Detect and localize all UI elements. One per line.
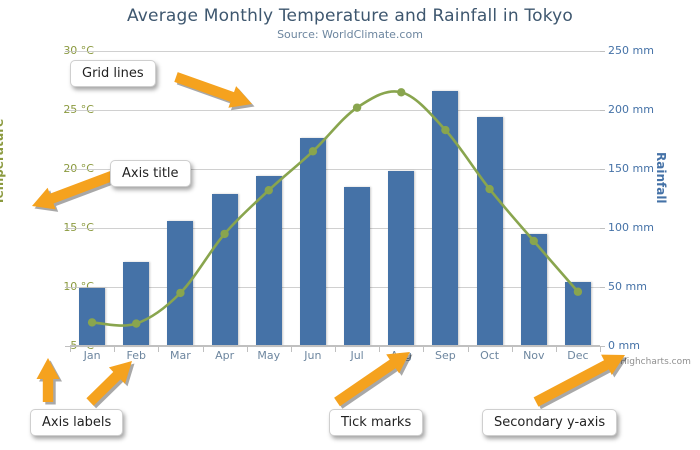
temperature-point[interactable]: Dec: 9.6 °C — [574, 288, 582, 296]
annotation-arrow-shadow — [39, 361, 62, 405]
annotation-arrow-shadow — [337, 355, 413, 409]
chart-subtitle: Source: WorldClimate.com — [0, 28, 700, 41]
temperature-point[interactable]: Jun: 21.5 °C — [309, 147, 317, 155]
x-axis-tick-mark — [556, 346, 557, 352]
x-axis-tick-mark — [468, 346, 469, 352]
callout-grid-lines: Grid lines — [70, 60, 156, 87]
temperature-point[interactable]: Nov: 13.9 °C — [530, 237, 538, 245]
x-axis-tick-mark — [291, 346, 292, 352]
x-axis-tick-label: Nov — [512, 349, 556, 362]
x-axis-tick-label: Feb — [114, 349, 158, 362]
y-axis-right-tick-label: 100 mm — [608, 221, 678, 234]
y-axis-right-tick-mark — [600, 228, 605, 229]
temperature-point[interactable]: Jul: 25.2 °C — [353, 103, 361, 111]
x-axis-tick-mark — [379, 346, 380, 352]
x-axis-tick-mark — [423, 346, 424, 352]
temperature-line — [92, 91, 578, 325]
y-axis-right-tick-mark — [600, 169, 605, 170]
x-axis-tick-mark — [158, 346, 159, 352]
x-axis-tick-mark — [70, 346, 71, 352]
x-axis-tick-label: Jul — [335, 349, 379, 362]
x-axis-tick-label: Aug — [379, 349, 423, 362]
temperature-point[interactable]: Sep: 23.3 °C — [441, 126, 449, 134]
temperature-point[interactable]: Jan: 7 °C — [88, 318, 96, 326]
annotation-arrow — [37, 358, 60, 402]
y-axis-right-tick-label: 200 mm — [608, 103, 678, 116]
x-axis-tick-label: Mar — [158, 349, 202, 362]
y-axis-right-tick-label: 250 mm — [608, 44, 678, 57]
x-axis-tick-label: Jun — [291, 349, 335, 362]
y-axis-right-tick-label: 150 mm — [608, 162, 678, 175]
y-axis-right-tick-mark — [600, 110, 605, 111]
x-axis-tick-mark — [247, 346, 248, 352]
highcharts-credit[interactable]: Highcharts.com — [620, 357, 691, 367]
x-axis-tick-mark — [203, 346, 204, 352]
temperature-point[interactable]: Apr: 14.5 °C — [220, 230, 228, 238]
temperature-point[interactable]: Feb: 6.9 °C — [132, 319, 140, 327]
y-axis-right-title: Rainfall — [654, 152, 668, 204]
annotation-arrow — [86, 361, 132, 406]
plot-area: Jan: 7 °CFeb: 6.9 °CMar: 9.5 °CApr: 14.5… — [70, 51, 600, 346]
callout-axis-labels: Axis labels — [30, 409, 123, 436]
x-axis-tick-label: Jan — [70, 349, 114, 362]
callout-axis-title: Axis title — [110, 160, 191, 187]
temperature-point[interactable]: May: 18.2 °C — [265, 186, 273, 194]
temperature-line-series: Jan: 7 °CFeb: 6.9 °CMar: 9.5 °CApr: 14.5… — [70, 51, 600, 346]
x-axis-tick-label: Sep — [423, 349, 467, 362]
annotation-arrow-shadow — [536, 357, 627, 409]
x-axis-tick-label: Dec — [556, 349, 600, 362]
x-axis-tick-mark — [335, 346, 336, 352]
x-axis-tick-mark — [512, 346, 513, 352]
annotation-arrow-shadow — [89, 364, 135, 409]
y-axis-right-tick-mark — [600, 287, 605, 288]
annotation-arrow — [534, 355, 625, 407]
x-axis-tick-label: May — [247, 349, 291, 362]
chart-canvas: Average Monthly Temperature and Rainfall… — [0, 0, 700, 450]
x-axis-tick-mark — [114, 346, 115, 352]
temperature-point[interactable]: Mar: 9.5 °C — [176, 289, 184, 297]
y-axis-right-tick-label: 0 mm — [608, 339, 678, 352]
y-axis-right-tick-mark — [600, 51, 605, 52]
x-axis-tick-mark — [600, 346, 601, 352]
callout-tick-marks: Tick marks — [329, 409, 423, 436]
callout-secondary-y-axis: Secondary y-axis — [482, 409, 617, 436]
temperature-point[interactable]: Oct: 18.3 °C — [485, 185, 493, 193]
y-axis-left-title: Temperature — [0, 119, 6, 205]
y-axis-right-tick-label: 50 mm — [608, 280, 678, 293]
x-axis-tick-label: Apr — [203, 349, 247, 362]
temperature-point[interactable]: Aug: 26.5 °C — [397, 88, 405, 96]
x-axis-tick-label: Oct — [468, 349, 512, 362]
chart-title: Average Monthly Temperature and Rainfall… — [0, 6, 700, 26]
